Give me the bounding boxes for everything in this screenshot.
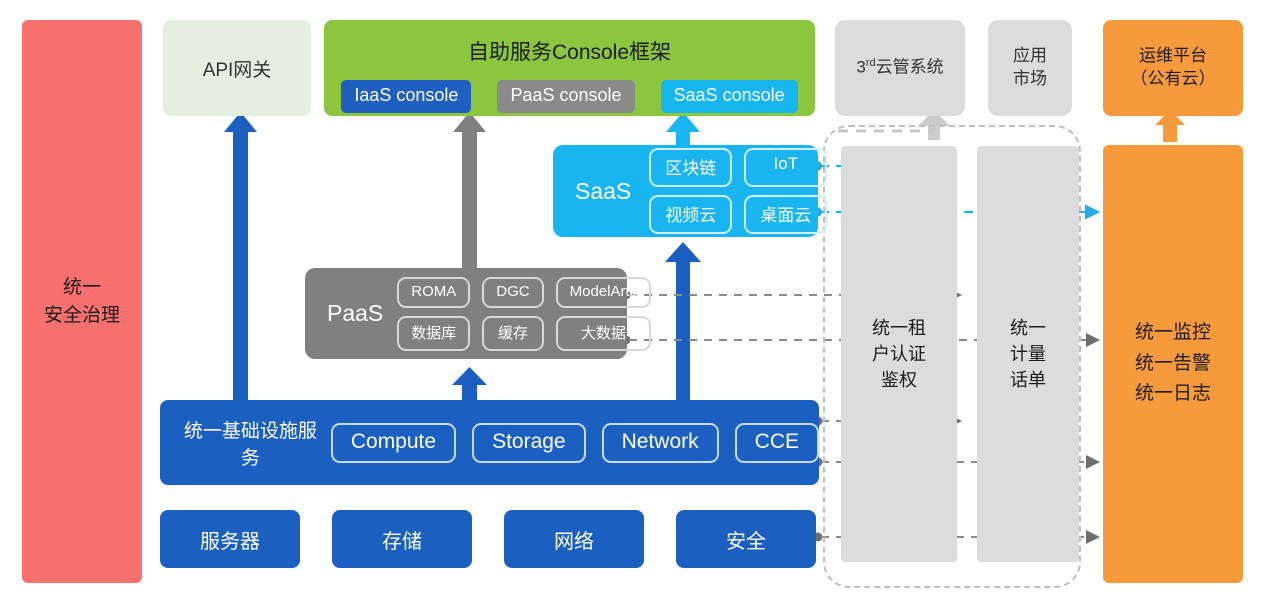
paas-service-dgc[interactable]: DGC xyxy=(482,277,543,308)
saas-service-video-cloud[interactable]: 视频云 xyxy=(649,195,732,234)
saas-console-button[interactable]: SaaS console xyxy=(661,80,798,113)
third-party-suffix: 云管系统 xyxy=(876,58,944,77)
ops-panel-line-2: 统一告警 xyxy=(1135,353,1211,374)
arrow-paas-to-console xyxy=(453,112,486,268)
infra-service-network[interactable]: Network xyxy=(602,423,719,463)
security-line-1: 统一 xyxy=(63,277,101,298)
saas-service-blockchain[interactable]: 区块链 xyxy=(649,148,732,187)
paas-layer: PaaS ROMA DGC ModelArts 数据库 缓存 大数据 xyxy=(305,268,627,359)
app-market-line-1: 应用 xyxy=(1013,46,1047,65)
paas-console-button[interactable]: PaaS console xyxy=(497,80,634,113)
saas-service-iot[interactable]: IoT xyxy=(744,148,827,187)
ops-platform-line-1: 运维平台 xyxy=(1139,46,1207,65)
ops-panel-line-1: 统一监控 xyxy=(1135,322,1211,343)
third-party-cloud-mgmt-box[interactable]: 3rd云管系统 xyxy=(835,20,965,116)
self-service-console-frame: 自助服务Console框架 IaaS console PaaS console … xyxy=(324,20,815,116)
ops-platform-line-2: （公有云） xyxy=(1131,69,1216,88)
app-market-label: 应用 市场 xyxy=(1013,45,1047,91)
auth-line-1: 统一租 xyxy=(872,318,926,338)
security-line-2: 安全治理 xyxy=(44,305,120,326)
resource-box-storage[interactable]: 存储 xyxy=(332,510,472,568)
ops-platform-box[interactable]: 运维平台 （公有云） xyxy=(1103,20,1243,116)
auth-line-2: 户认证 xyxy=(872,344,926,364)
saas-layer: SaaS 区块链 IoT 视频云 桌面云 xyxy=(553,145,818,237)
app-market-line-2: 市场 xyxy=(1013,69,1047,88)
third-party-prefix: 3 xyxy=(856,58,865,77)
arrow-infra-to-paas xyxy=(452,367,487,400)
paas-layer-label: PaaS xyxy=(327,300,383,327)
paas-service-bigdata[interactable]: 大数据 xyxy=(556,316,652,351)
api-gateway-label: API网关 xyxy=(203,55,272,82)
app-market-box[interactable]: 应用 市场 xyxy=(988,20,1072,116)
paas-service-cache[interactable]: 缓存 xyxy=(482,316,543,351)
arrow-saas-to-console xyxy=(666,112,700,148)
infra-service-compute[interactable]: Compute xyxy=(331,423,456,463)
resource-box-server[interactable]: 服务器 xyxy=(160,510,300,568)
ops-panel-line-3: 统一日志 xyxy=(1135,383,1211,404)
arrow-infra-to-apigw xyxy=(224,112,257,400)
api-gateway-box[interactable]: API网关 xyxy=(163,20,311,116)
resource-box-security[interactable]: 安全 xyxy=(676,510,816,568)
auth-line-3: 鉴权 xyxy=(881,370,917,390)
resource-server-label: 服务器 xyxy=(200,525,260,554)
shared-service-auth[interactable]: 统一租 户认证 鉴权 xyxy=(841,146,957,562)
resource-security-label: 安全 xyxy=(726,525,766,554)
shared-service-metering-label: 统一 计量 话单 xyxy=(1010,315,1046,393)
shared-service-metering[interactable]: 统一 计量 话单 xyxy=(977,146,1079,562)
saas-service-grid: 区块链 IoT 视频云 桌面云 xyxy=(649,148,827,234)
infrastructure-service-list: Compute Storage Network CCE xyxy=(331,423,819,463)
iaas-console-button[interactable]: IaaS console xyxy=(341,80,471,113)
resource-storage-label: 存储 xyxy=(382,525,422,554)
console-button-row: IaaS console PaaS console SaaS console xyxy=(341,80,797,113)
saas-service-desktop-cloud[interactable]: 桌面云 xyxy=(744,195,827,234)
metering-line-3: 话单 xyxy=(1010,370,1046,390)
metering-line-1: 统一 xyxy=(1010,318,1046,338)
unified-infrastructure-bar: 统一基础设施服务 Compute Storage Network CCE xyxy=(160,400,819,485)
ops-panel-label: 统一监控 统一告警 统一日志 xyxy=(1135,318,1211,409)
infra-service-cce[interactable]: CCE xyxy=(735,423,819,463)
console-frame-title: 自助服务Console框架 xyxy=(468,36,671,66)
resource-box-network[interactable]: 网络 xyxy=(504,510,644,568)
paas-service-grid: ROMA DGC ModelArts 数据库 缓存 大数据 xyxy=(397,277,651,351)
paas-service-database[interactable]: 数据库 xyxy=(397,316,470,351)
shared-service-auth-label: 统一租 户认证 鉴权 xyxy=(872,315,926,393)
unified-security-governance-panel[interactable]: 统一 安全治理 xyxy=(22,20,142,583)
third-party-superscript: rd xyxy=(866,57,876,69)
infrastructure-label: 统一基础设施服务 xyxy=(182,416,319,470)
paas-service-modelarts[interactable]: ModelArts xyxy=(556,277,652,308)
resource-network-label: 网络 xyxy=(554,525,594,554)
architecture-diagram: 统一租 户认证 鉴权 统一 计量 话单 统一 安全治理 API网关 自助服务Co… xyxy=(0,0,1265,605)
unified-monitoring-panel[interactable]: 统一监控 统一告警 统一日志 xyxy=(1103,145,1243,583)
saas-layer-label: SaaS xyxy=(575,178,631,205)
security-panel-label: 统一 安全治理 xyxy=(44,274,120,329)
ops-platform-label: 运维平台 （公有云） xyxy=(1131,45,1216,91)
paas-service-roma[interactable]: ROMA xyxy=(397,277,470,308)
arrow-infra-to-saas xyxy=(665,242,701,400)
metering-line-2: 计量 xyxy=(1010,344,1046,364)
infra-service-storage[interactable]: Storage xyxy=(472,423,586,463)
third-party-label: 3rd云管系统 xyxy=(856,56,943,80)
